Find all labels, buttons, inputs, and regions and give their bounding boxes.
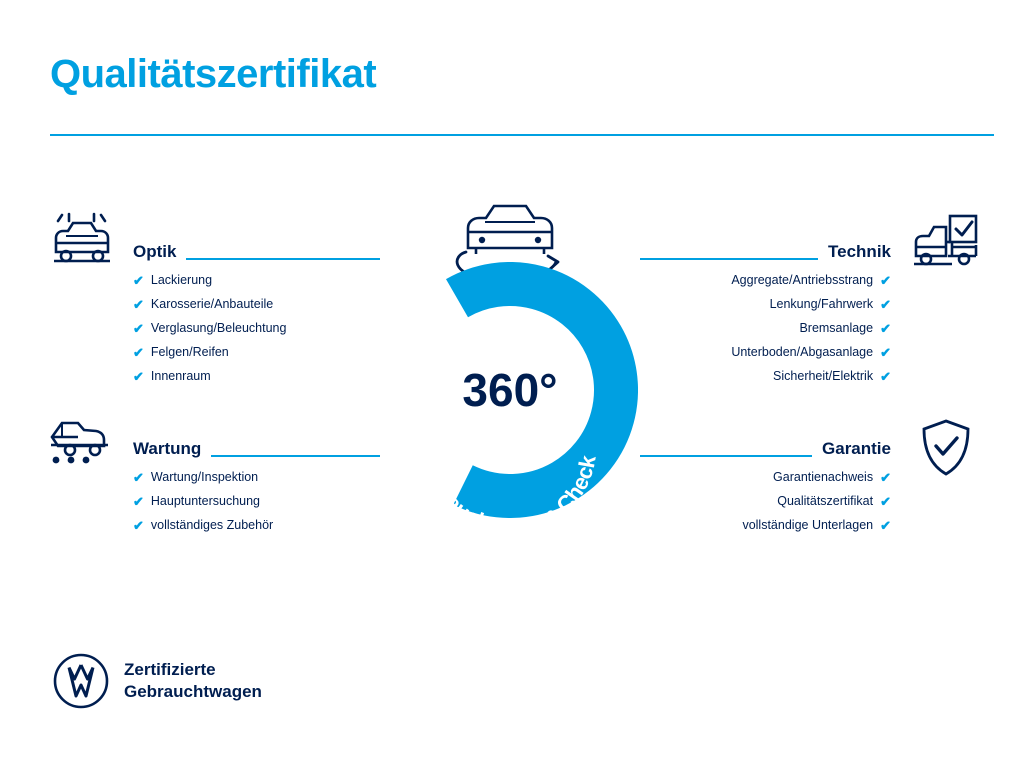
- list-item: Bremsanlage ✔: [640, 322, 891, 335]
- list-item: ✔ Lackierung: [133, 274, 380, 287]
- list-item-label: Garantienachweis: [773, 471, 873, 484]
- list-item: Unterboden/Abgasanlage ✔: [640, 346, 891, 359]
- section-garantie-divider: [640, 455, 812, 457]
- section-garantie: Garantie Garantienachweis ✔ Qualitätszer…: [640, 440, 891, 543]
- check-icon: ✔: [133, 471, 144, 484]
- list-item-label: Bremsanlage: [799, 322, 873, 335]
- list-item-label: Hauptuntersuchung: [151, 495, 260, 508]
- check-icon: ✔: [880, 471, 891, 484]
- list-item: Lenkung/Fahrwerk ✔: [640, 298, 891, 311]
- section-optik-divider: [186, 258, 380, 260]
- list-item-label: Qualitätszertifikat: [777, 495, 873, 508]
- page-title: Qualitätszertifikat: [50, 52, 376, 97]
- list-item-label: Sicherheit/Elektrik: [773, 370, 873, 383]
- list-item: Aggregate/Antriebsstrang ✔: [640, 274, 891, 287]
- center-badge: Gebrauchtwagen-Check 360°: [382, 200, 642, 540]
- section-garantie-header: Garantie: [640, 440, 891, 457]
- section-wartung-list: ✔ Wartung/Inspektion ✔ Hauptuntersuchung…: [133, 471, 380, 532]
- list-item: ✔ Felgen/Reifen: [133, 346, 380, 359]
- list-item: ✔ vollständiges Zubehör: [133, 519, 380, 532]
- list-item-label: Karosserie/Anbauteile: [151, 298, 273, 311]
- ring-center-label: 360°: [382, 262, 638, 518]
- section-garantie-title: Garantie: [822, 440, 891, 457]
- section-garantie-list: Garantienachweis ✔ Qualitätszertifikat ✔…: [640, 471, 891, 532]
- check-icon: ✔: [880, 322, 891, 335]
- list-item: ✔ Karosserie/Anbauteile: [133, 298, 380, 311]
- section-optik: Optik ✔ Lackierung ✔ Karosserie/Anbautei…: [133, 243, 380, 394]
- check-icon: ✔: [133, 519, 144, 532]
- section-wartung: Wartung ✔ Wartung/Inspektion ✔ Hauptunte…: [133, 440, 380, 543]
- list-item: vollständige Unterlagen ✔: [640, 519, 891, 532]
- list-item: Garantienachweis ✔: [640, 471, 891, 484]
- list-item-label: Verglasung/Beleuchtung: [151, 322, 287, 335]
- vw-logo-icon: [52, 652, 110, 710]
- list-item: ✔ Hauptuntersuchung: [133, 495, 380, 508]
- section-technik-divider: [640, 258, 818, 260]
- check-icon: ✔: [880, 274, 891, 287]
- footer-brand-text: Zertifizierte Gebrauchtwagen: [124, 659, 262, 703]
- section-technik-title: Technik: [828, 243, 891, 260]
- list-item-label: Wartung/Inspektion: [151, 471, 258, 484]
- section-wartung-title: Wartung: [133, 440, 201, 457]
- section-wartung-header: Wartung: [133, 440, 380, 457]
- check-icon: ✔: [880, 346, 891, 359]
- list-item-label: Lenkung/Fahrwerk: [770, 298, 874, 311]
- check-icon: ✔: [133, 370, 144, 383]
- check-icon: ✔: [133, 274, 144, 287]
- check-icon: ✔: [880, 495, 891, 508]
- check-icon: ✔: [133, 322, 144, 335]
- list-item-label: Aggregate/Antriebsstrang: [731, 274, 873, 287]
- shield-check-icon: [920, 418, 972, 483]
- check-icon: ✔: [880, 519, 891, 532]
- title-divider: [50, 134, 994, 136]
- list-item: ✔ Wartung/Inspektion: [133, 471, 380, 484]
- check-icon: ✔: [133, 495, 144, 508]
- footer-line-1: Zertifizierte: [124, 659, 262, 681]
- list-item-label: Innenraum: [151, 370, 211, 383]
- footer-line-2: Gebrauchtwagen: [124, 681, 262, 703]
- section-technik-list: Aggregate/Antriebsstrang ✔ Lenkung/Fahrw…: [640, 274, 891, 383]
- car-wash-icon: [48, 212, 116, 279]
- section-technik-header: Technik: [640, 243, 891, 260]
- list-item: ✔ Innenraum: [133, 370, 380, 383]
- list-item-label: vollständiges Zubehör: [151, 519, 273, 532]
- list-item-label: Lackierung: [151, 274, 212, 287]
- check-icon: ✔: [133, 346, 144, 359]
- list-item-label: Unterboden/Abgasanlage: [731, 346, 873, 359]
- section-technik: Technik Aggregate/Antriebsstrang ✔ Lenku…: [640, 243, 891, 394]
- list-item-label: vollständige Unterlagen: [742, 519, 873, 532]
- check-icon: ✔: [133, 298, 144, 311]
- list-item: Qualitätszertifikat ✔: [640, 495, 891, 508]
- car-service-lift-icon: [48, 410, 116, 477]
- section-optik-title: Optik: [133, 243, 176, 260]
- list-item: Sicherheit/Elektrik ✔: [640, 370, 891, 383]
- section-optik-header: Optik: [133, 243, 380, 260]
- list-item: ✔ Verglasung/Beleuchtung: [133, 322, 380, 335]
- section-optik-list: ✔ Lackierung ✔ Karosserie/Anbauteile ✔ V…: [133, 274, 380, 383]
- car-checklist-icon: [912, 212, 980, 279]
- footer-brand: Zertifizierte Gebrauchtwagen: [52, 652, 262, 710]
- certificate-page: Qualitätszertifikat: [0, 0, 1024, 768]
- check-icon: ✔: [880, 370, 891, 383]
- list-item-label: Felgen/Reifen: [151, 346, 229, 359]
- section-wartung-divider: [211, 455, 380, 457]
- check-icon: ✔: [880, 298, 891, 311]
